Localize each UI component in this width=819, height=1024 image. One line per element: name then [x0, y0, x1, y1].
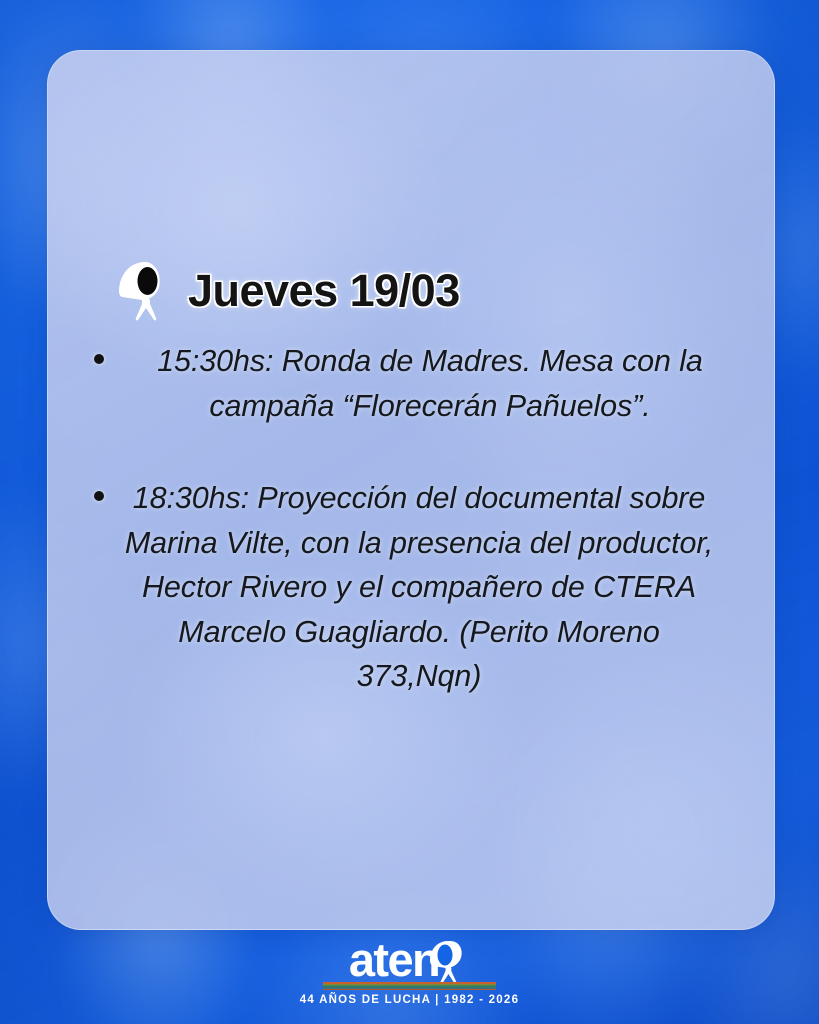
footer-logo: aten 44 AÑOS DE LUCHA | 1982 - 2026	[0, 934, 819, 1006]
logo-mark: aten	[349, 934, 470, 980]
panuelo-icon	[116, 260, 174, 322]
logo-wordmark: aten	[349, 940, 439, 980]
agenda-item-text: 18:30hs: Proyección del documental sobre…	[104, 476, 728, 699]
bullet-icon	[94, 491, 104, 501]
page-title: Jueves 19/03	[188, 265, 460, 317]
content-card: Jueves 19/03 15:30hs: Ronda de Madres. M…	[47, 50, 775, 930]
title-row: Jueves 19/03	[116, 260, 460, 322]
list-item: 15:30hs: Ronda de Madres. Mesa con la ca…	[94, 339, 728, 428]
poster-root: Jueves 19/03 15:30hs: Ronda de Madres. M…	[0, 0, 819, 1024]
panuelo-icon	[428, 940, 470, 986]
card-inner: Jueves 19/03 15:30hs: Ronda de Madres. M…	[48, 51, 774, 929]
bullet-icon	[94, 354, 104, 364]
agenda-item-text: 15:30hs: Ronda de Madres. Mesa con la ca…	[104, 339, 728, 428]
list-item: 18:30hs: Proyección del documental sobre…	[94, 476, 728, 699]
agenda-list: 15:30hs: Ronda de Madres. Mesa con la ca…	[94, 339, 728, 699]
logo-color-rule	[323, 982, 496, 990]
logo-tagline: 44 AÑOS DE LUCHA | 1982 - 2026	[300, 994, 519, 1006]
